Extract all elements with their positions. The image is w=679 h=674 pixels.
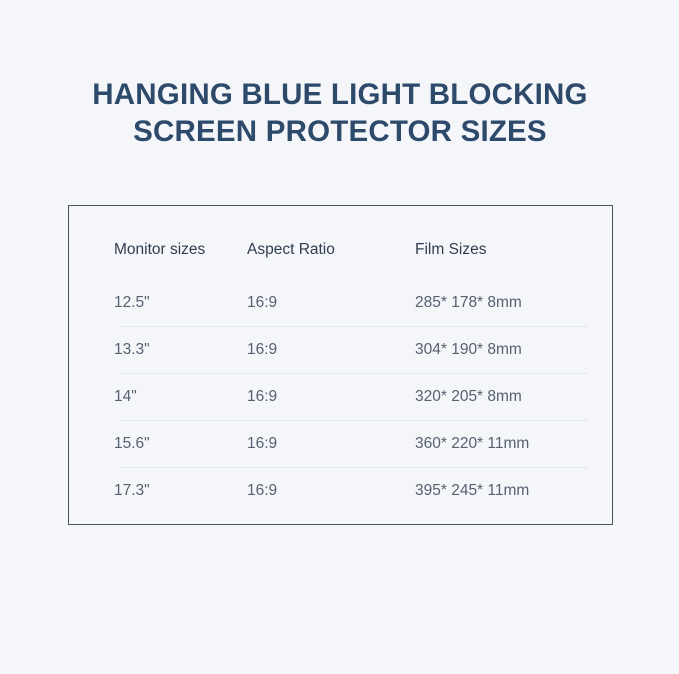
cell-film-size: 304* 190* 8mm	[415, 341, 612, 359]
table-row: 14" 16:9 320* 205* 8mm	[69, 373, 612, 420]
cell-monitor-size: 15.6"	[69, 435, 247, 453]
page-title: HANGING BLUE LIGHT BLOCKING SCREEN PROTE…	[83, 76, 597, 150]
column-header-aspect-ratio: Aspect Ratio	[247, 241, 415, 259]
cell-monitor-size: 12.5"	[69, 294, 247, 312]
table-row: 12.5" 16:9 285* 178* 8mm	[69, 279, 612, 326]
cell-aspect-ratio: 16:9	[247, 294, 415, 312]
cell-film-size: 360* 220* 11mm	[415, 435, 612, 453]
cell-monitor-size: 17.3"	[69, 482, 247, 500]
table-row: 17.3" 16:9 395* 245* 11mm	[69, 467, 612, 514]
table-row: 15.6" 16:9 360* 220* 11mm	[69, 420, 612, 467]
size-chart-table-inner: Monitor sizes Aspect Ratio Film Sizes 12…	[69, 206, 612, 524]
cell-aspect-ratio: 16:9	[247, 388, 415, 406]
page-title-line-1: HANGING BLUE LIGHT BLOCKING	[83, 76, 597, 113]
cell-monitor-size: 14"	[69, 388, 247, 406]
product-spec-page: HANGING BLUE LIGHT BLOCKING SCREEN PROTE…	[0, 0, 679, 674]
column-header-film-sizes: Film Sizes	[415, 241, 612, 259]
page-title-line-2: SCREEN PROTECTOR SIZES	[83, 113, 597, 150]
cell-film-size: 285* 178* 8mm	[415, 294, 612, 312]
table-header-row: Monitor sizes Aspect Ratio Film Sizes	[69, 226, 612, 273]
cell-aspect-ratio: 16:9	[247, 482, 415, 500]
cell-aspect-ratio: 16:9	[247, 341, 415, 359]
cell-film-size: 320* 205* 8mm	[415, 388, 612, 406]
table-row: 13.3" 16:9 304* 190* 8mm	[69, 326, 612, 373]
cell-film-size: 395* 245* 11mm	[415, 482, 612, 500]
cell-monitor-size: 13.3"	[69, 341, 247, 359]
cell-aspect-ratio: 16:9	[247, 435, 415, 453]
column-header-monitor-sizes: Monitor sizes	[69, 241, 247, 259]
size-chart-table: Monitor sizes Aspect Ratio Film Sizes 12…	[68, 205, 613, 525]
